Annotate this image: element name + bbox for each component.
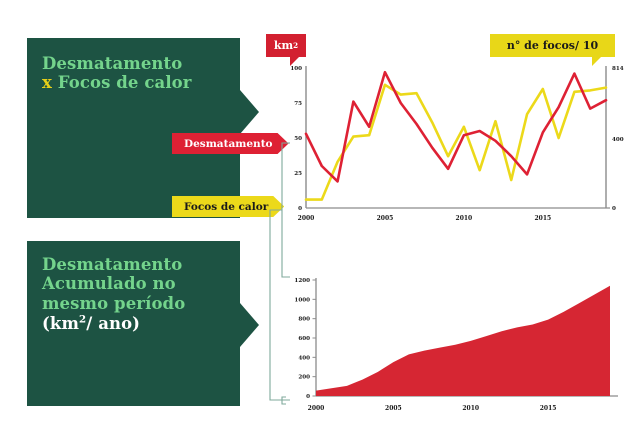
svg-text:800: 800 [298,317,310,323]
svg-text:2005: 2005 [385,405,402,412]
infographic-canvas: Desmatamento x Focos de calor Desmatamen… [0,0,640,440]
panel-bottom-unit-prefix: (km [42,314,79,333]
panel-arrow-icon [240,90,259,134]
panel-deforestation-vs-fires: Desmatamento x Focos de calor [27,38,240,218]
panel-top-title: Desmatamento x Focos de calor [42,54,242,93]
axis-badge-fires-text: n° de focos/ 10 [507,39,598,52]
svg-text:200: 200 [298,375,310,381]
svg-text:1000: 1000 [294,297,310,303]
svg-text:50: 50 [294,136,302,142]
svg-text:0: 0 [298,206,302,212]
panel-bottom-unit: (km2/ ano) [42,314,140,333]
svg-text:814: 814 [612,66,624,72]
svg-text:2010: 2010 [456,215,473,222]
svg-text:2015: 2015 [534,215,551,222]
svg-text:75: 75 [294,101,302,107]
panel-bottom-title: Desmatamento Acumulado no mesmo período … [42,255,242,333]
svg-text:2015: 2015 [540,405,557,412]
panel-accumulated-deforestation: Desmatamento Acumulado no mesmo período … [27,241,240,406]
area-chart-accumulated: 0200400600800100012002000200520102015 [280,272,632,422]
axis-badge-km2-text: km [274,39,293,52]
svg-text:25: 25 [294,171,302,177]
axis-badge-km2-sup: 2 [293,41,298,50]
svg-text:0: 0 [612,206,616,212]
panel-bottom-line1: Desmatamento [42,255,182,274]
line-chart-deforestation-fires: 025507510004008142000200520102015 [280,60,632,235]
panel-bottom-unit-suffix: / ano) [86,314,140,333]
svg-text:0: 0 [306,394,310,400]
svg-text:400: 400 [298,355,310,361]
axis-badge-km2: km2 [266,34,306,57]
panel-top-marker: x [42,73,52,92]
svg-text:1200: 1200 [294,278,310,284]
svg-text:2005: 2005 [377,215,394,222]
svg-text:600: 600 [298,336,310,342]
panel-top-line1: Desmatamento [42,54,182,73]
svg-text:100: 100 [290,66,302,72]
panel-bottom-line2: Acumulado no [42,274,176,293]
axis-badge-fires-count: n° de focos/ 10 [490,34,615,57]
svg-text:400: 400 [612,137,624,143]
panel-arrow-icon [240,303,259,347]
svg-text:2000: 2000 [298,215,315,222]
panel-bottom-line3: mesmo período [42,294,185,313]
panel-top-line2: Focos de calor [58,73,192,92]
svg-text:2000: 2000 [308,405,325,412]
svg-text:2010: 2010 [462,405,479,412]
